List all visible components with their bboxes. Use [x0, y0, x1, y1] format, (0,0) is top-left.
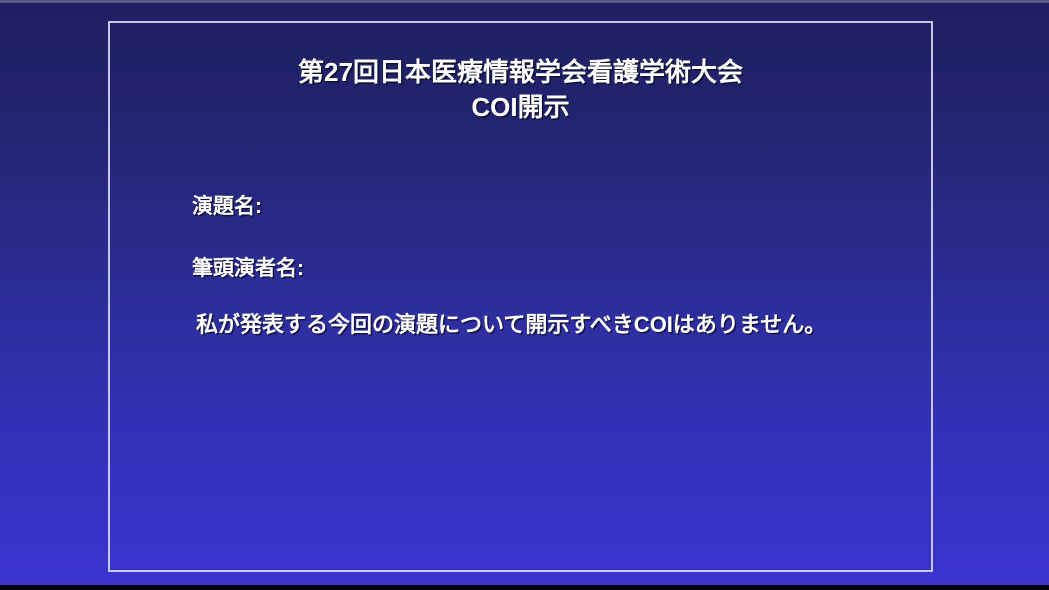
slide-content-frame: 第27回日本医療情報学会看護学術大会 COI開示 演題名: 筆頭演者名: 私が発… [108, 21, 933, 572]
field-label-presentation-title: 演題名: [192, 190, 262, 220]
slide-canvas: 第27回日本医療情報学会看護学術大会 COI開示 演題名: 筆頭演者名: 私が発… [0, 0, 1049, 590]
title-line-coi-disclosure: COI開示 [110, 90, 931, 125]
title-line-conference: 第27回日本医療情報学会看護学術大会 [110, 55, 931, 90]
top-letterbox-strip [0, 0, 1049, 3]
bottom-letterbox-strip [0, 585, 1049, 590]
slide-title: 第27回日本医療情報学会看護学術大会 COI開示 [110, 55, 931, 125]
field-label-lead-presenter-name: 筆頭演者名: [192, 252, 304, 282]
coi-statement-text: 私が発表する今回の演題について開示すべきCOIはありません。 [176, 309, 946, 340]
